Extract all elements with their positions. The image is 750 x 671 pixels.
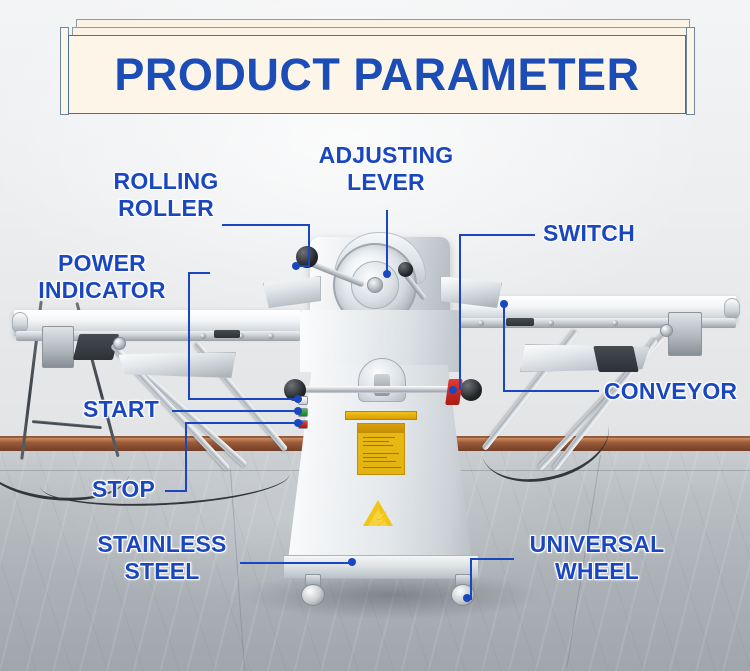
control-handle-bar[interactable] (296, 386, 468, 393)
leader-dot-stainless-steel (348, 558, 356, 566)
right-belt-roller-cap (724, 298, 740, 320)
leader-dot-switch (449, 386, 457, 394)
leader-line-power-indicator (188, 272, 190, 400)
left-belt-mount (42, 326, 74, 368)
callout-universal-wheel: UNIVERSAL WHEEL (512, 531, 682, 585)
rail-bolt (548, 320, 554, 326)
leader-line-stop (185, 422, 303, 424)
title-banner: PRODUCT PARAMETER (0, 0, 750, 130)
callout-stop: STOP (92, 476, 182, 503)
rail-bolt (268, 333, 274, 339)
universal-wheel-left (300, 574, 326, 606)
specification-label-header (358, 424, 404, 433)
right-belt-mount (668, 312, 702, 356)
handle-knob-right[interactable] (460, 379, 482, 401)
product-parameter-infographic: ⚡ (0, 0, 750, 671)
leader-line-universal-wheel (470, 558, 472, 600)
leader-dot-adjusting-lever (383, 270, 391, 278)
leader-line-stainless-steel (240, 562, 352, 564)
callout-conveyor: CONVEYOR (604, 378, 744, 405)
brand-nameplate (345, 411, 417, 420)
callout-switch: SWITCH (543, 220, 693, 247)
left-rail-sensor (214, 330, 240, 338)
specification-label (357, 423, 405, 475)
leader-dot-power-indicator (294, 395, 302, 403)
leader-line-rolling-roller (222, 224, 310, 226)
leader-line-switch (459, 234, 461, 390)
universal-wheel-right (450, 574, 476, 606)
right-rail-sensor (506, 318, 534, 326)
right-tray-shadow (593, 346, 639, 372)
leader-dot-start (294, 407, 302, 415)
callout-rolling-roller: ROLLING ROLLER (96, 168, 236, 222)
leader-line-power-indicator (188, 398, 300, 400)
rail-bolt (200, 333, 206, 339)
leader-line-conveyor (503, 390, 599, 392)
leader-line-rolling-roller (296, 265, 310, 267)
page-title: PRODUCT PARAMETER (68, 35, 686, 114)
leader-line-power-indicator (188, 272, 210, 274)
callout-power-indicator: POWER INDICATOR (18, 250, 186, 304)
rail-bolt (478, 320, 484, 326)
lightning-bolt-icon: ⚡ (374, 512, 390, 525)
caster-wheel (301, 584, 325, 606)
left-support-pivot (113, 337, 126, 350)
callout-start: START (83, 396, 183, 423)
leader-line-adjusting-lever (386, 210, 388, 274)
left-work-tray (118, 352, 236, 378)
leader-dot-universal-wheel (463, 594, 471, 602)
roller-wheel-hub (367, 277, 383, 293)
leader-line-start (172, 410, 302, 412)
leader-line-rolling-roller (308, 224, 310, 266)
callout-stainless-steel: STAINLESS STEEL (82, 531, 242, 585)
leader-dot-stop (294, 419, 302, 427)
leader-line-stop (185, 422, 187, 492)
leader-line-universal-wheel (470, 558, 514, 560)
right-lever-knob[interactable] (398, 262, 413, 277)
rail-bolt (612, 320, 618, 326)
banner-right-flap (686, 27, 695, 115)
leader-line-switch (459, 234, 535, 236)
callout-adjusting-lever: ADJUSTING LEVER (296, 142, 476, 196)
right-support-pivot (660, 324, 673, 337)
leader-line-conveyor (503, 304, 505, 392)
